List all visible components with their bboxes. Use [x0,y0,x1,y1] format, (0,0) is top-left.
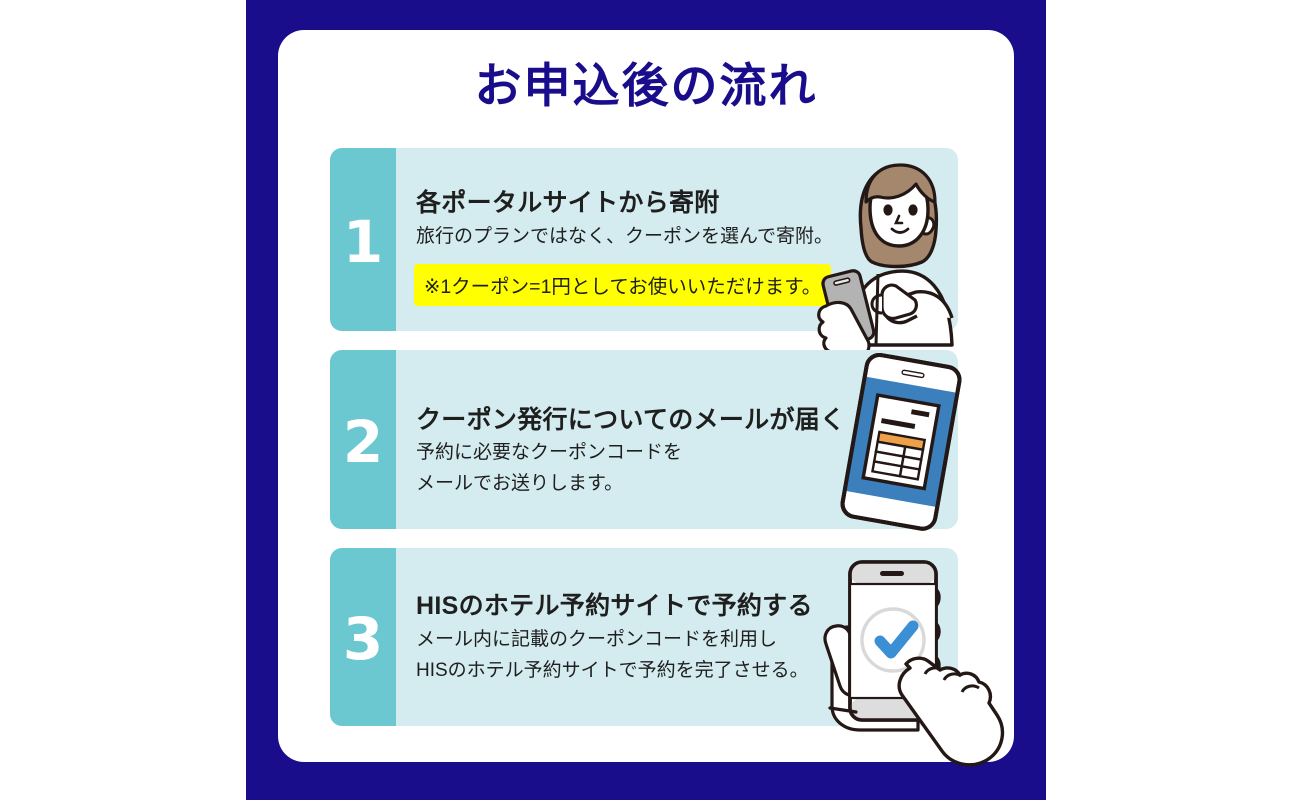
step-heading-3: HISのホテル予約サイトで予約する [416,586,813,622]
step-number-badge-2: 2 [330,350,396,529]
step-number-label-1: 1 [343,213,383,271]
step-highlight-note-1: ※1クーポン=1円としてお使いいただけます。 [414,264,831,306]
infographic-root: お申込後の流れ 1 各ポータルサイトから寄附 旅行のプランではなく、クーポンを選… [0,0,1290,800]
page-title: お申込後の流れ [278,60,1014,112]
step-number-label-2: 2 [343,413,383,471]
step-number-label-3: 3 [343,610,383,668]
woman-with-smartphone-illustration [800,150,980,345]
step-description-3: メール内に記載のクーポンコードを利用し HISのホテル予約サイトで予約を完了させ… [416,624,809,687]
step-description-2: 予約に必要なクーポンコードを メールでお送りします。 [416,437,682,500]
step-number-badge-3: 3 [330,548,396,726]
step-description-1: 旅行のプランではなく、クーポンを選んで寄附。 [416,221,833,252]
step-heading-2: クーポン発行についてのメールが届く [416,400,845,436]
step-heading-1: 各ポータルサイトから寄附 [416,183,720,219]
hand-tapping-smartphone-checkmark-illustration [818,548,1028,778]
step-number-badge-1: 1 [330,148,396,331]
tilted-smartphone-email-illustration [828,352,976,532]
